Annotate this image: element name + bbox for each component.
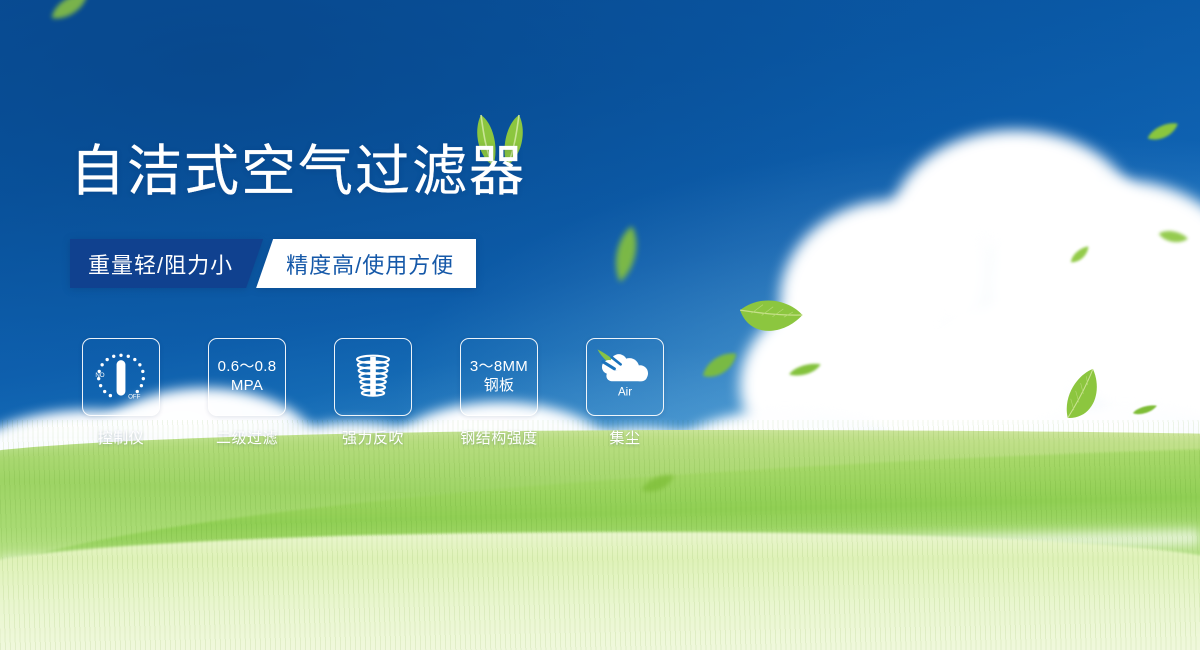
feature-icon-box: Air <box>586 338 664 416</box>
dial-off-label: OFF <box>128 393 141 400</box>
air-label: Air <box>618 386 632 398</box>
control-dial-icon: NO OFF <box>90 346 152 408</box>
subtitle-tag-primary: 重量轻/阻力小 <box>70 239 263 288</box>
feature-label: 钢结构强度 <box>448 427 550 448</box>
feature-label: 集尘 <box>586 427 664 448</box>
feature-list: NO OFF 控制仪 0.6～0.8 MPA 二级过滤 <box>82 338 664 448</box>
dial-on-label: NO <box>95 372 104 379</box>
feature-icon-box: 0.6～0.8 MPA <box>208 338 286 416</box>
page-title: 自洁式空气过滤器 <box>70 143 526 201</box>
feature-icon-box: NO OFF <box>82 338 160 416</box>
feature-text-line1: 3～8MM <box>470 358 528 377</box>
grass-field <box>0 420 1200 650</box>
subtitle-tag-secondary: 精度高/使用方便 <box>256 239 476 288</box>
feature-item-steel-strength[interactable]: 3～8MM 钢板 钢结构强度 <box>460 338 538 448</box>
feature-label: 二级过滤 <box>208 427 286 448</box>
feature-text-line2: 钢板 <box>484 377 515 396</box>
feature-label: 强力反吹 <box>334 427 412 448</box>
feature-text-line1: 0.6～0.8 <box>218 358 277 377</box>
product-banner: 自洁式空气过滤器 重量轻/阻力小 精度高/使用方便 <box>0 0 1200 650</box>
feature-item-dust-collection[interactable]: Air 集尘 <box>586 338 664 448</box>
feature-text-line2: MPA <box>231 377 263 396</box>
feature-label: 控制仪 <box>82 427 160 448</box>
feature-icon-box <box>334 338 412 416</box>
feature-item-backblow[interactable]: 强力反吹 <box>334 338 412 448</box>
filter-stack-icon <box>345 349 401 405</box>
subtitle-tags: 重量轻/阻力小 精度高/使用方便 <box>70 239 476 288</box>
feature-icon-box: 3～8MM 钢板 <box>460 338 538 416</box>
feature-item-pressure[interactable]: 0.6～0.8 MPA 二级过滤 <box>208 338 286 448</box>
grass-texture <box>0 420 1200 650</box>
air-cloud-icon: Air <box>594 344 656 406</box>
feature-item-control-dial[interactable]: NO OFF 控制仪 <box>82 338 160 448</box>
